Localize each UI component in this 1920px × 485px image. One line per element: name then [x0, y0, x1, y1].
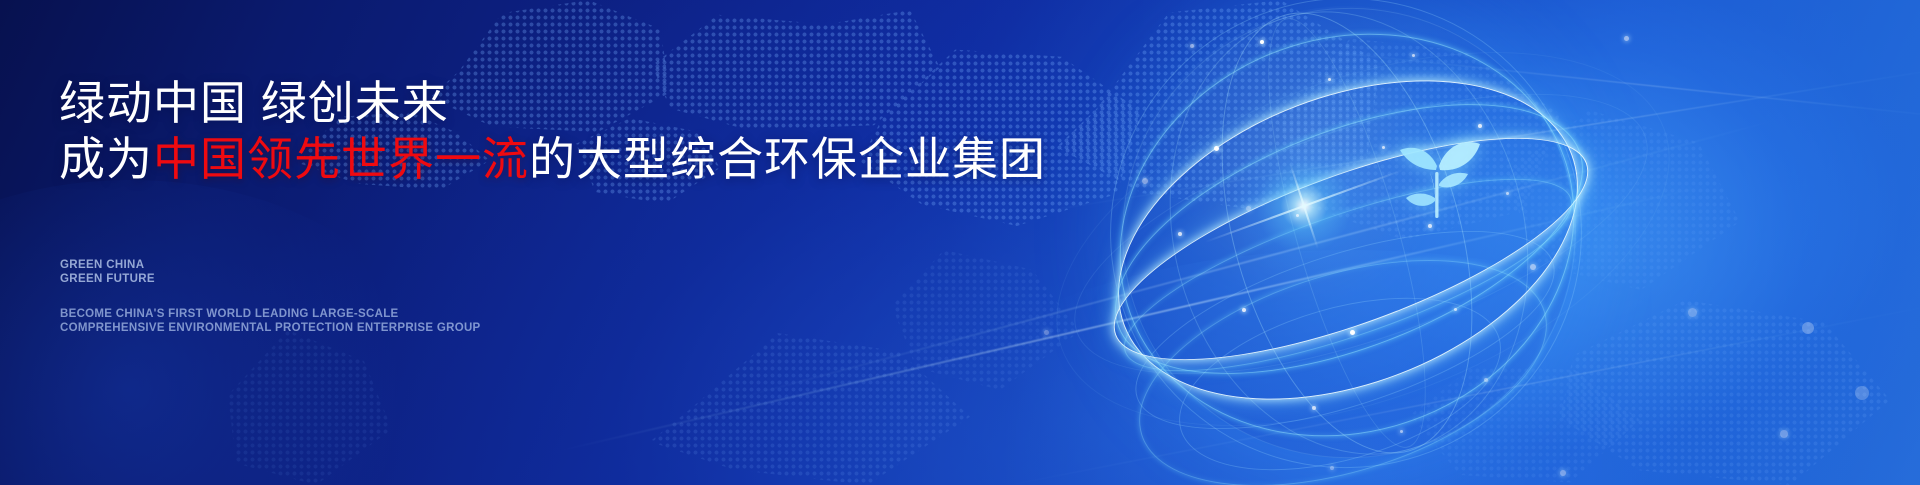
- headline-line-1-text: 绿动中国 绿创未来: [59, 77, 449, 129]
- globe-core-flare: [1229, 131, 1379, 281]
- globe-ring: [1079, 49, 1618, 430]
- globe-outer-ring: [1042, 36, 1680, 432]
- headline-line-2-suffix: 的大型综合环保企业集团: [529, 133, 1046, 185]
- headline-line-2-highlight: 中国领先世界一流: [153, 133, 529, 185]
- headline-line-1: 绿动中国 绿创未来: [59, 80, 449, 126]
- banner-copy: 绿动中国 绿创未来 成为中国领先世界一流的大型综合环保企业集团 GREEN CH…: [59, 0, 1059, 485]
- globe-ring: [1112, 217, 1573, 485]
- globe-graphic: [1082, 0, 1642, 485]
- subtitle-english-line-2: COMPREHENSIVE ENVIRONMENTAL PROTECTION E…: [60, 321, 481, 335]
- globe-ring: [1089, 93, 1612, 406]
- tagline-english-line-2: GREEN FUTURE: [60, 272, 155, 286]
- ambient-glow-right: [1230, 0, 1920, 485]
- globe-outer-ring: [1006, 0, 1719, 485]
- light-streak: [989, 302, 1920, 485]
- tagline-english-line-1: GREEN CHINA: [60, 258, 155, 272]
- globe-meridian: [1069, 0, 1629, 485]
- headline-line-2-prefix: 成为: [59, 133, 153, 185]
- subtitle-english: BECOME CHINA'S FIRST WORLD LEADING LARGE…: [60, 307, 481, 336]
- sprout-leaf-icon: [1390, 126, 1486, 222]
- globe-ring: [1105, 140, 1591, 409]
- globe-ring: [1113, 190, 1577, 470]
- globe-meridian: [1237, 5, 1458, 462]
- globe-sphere: [1122, 6, 1574, 458]
- headline-line-2: 成为中国领先世界一流的大型综合环保企业集团: [59, 136, 1046, 182]
- globe-ring: [1159, 265, 1520, 485]
- globe-meridian: [1119, 0, 1579, 485]
- light-streak: [1242, 42, 1920, 123]
- subtitle-english-line-1: BECOME CHINA'S FIRST WORLD LEADING LARGE…: [60, 307, 481, 321]
- globe-meridian: [1176, 0, 1518, 482]
- tagline-english: GREEN CHINA GREEN FUTURE: [60, 258, 155, 287]
- globe-ring: [1063, 0, 1632, 485]
- globe-ring: [1049, 0, 1643, 485]
- light-streak: [1006, 63, 1920, 218]
- hero-banner: 绿动中国 绿创未来 成为中国领先世界一流的大型综合环保企业集团 GREEN CH…: [0, 0, 1920, 485]
- globe-ring: [1072, 20, 1623, 461]
